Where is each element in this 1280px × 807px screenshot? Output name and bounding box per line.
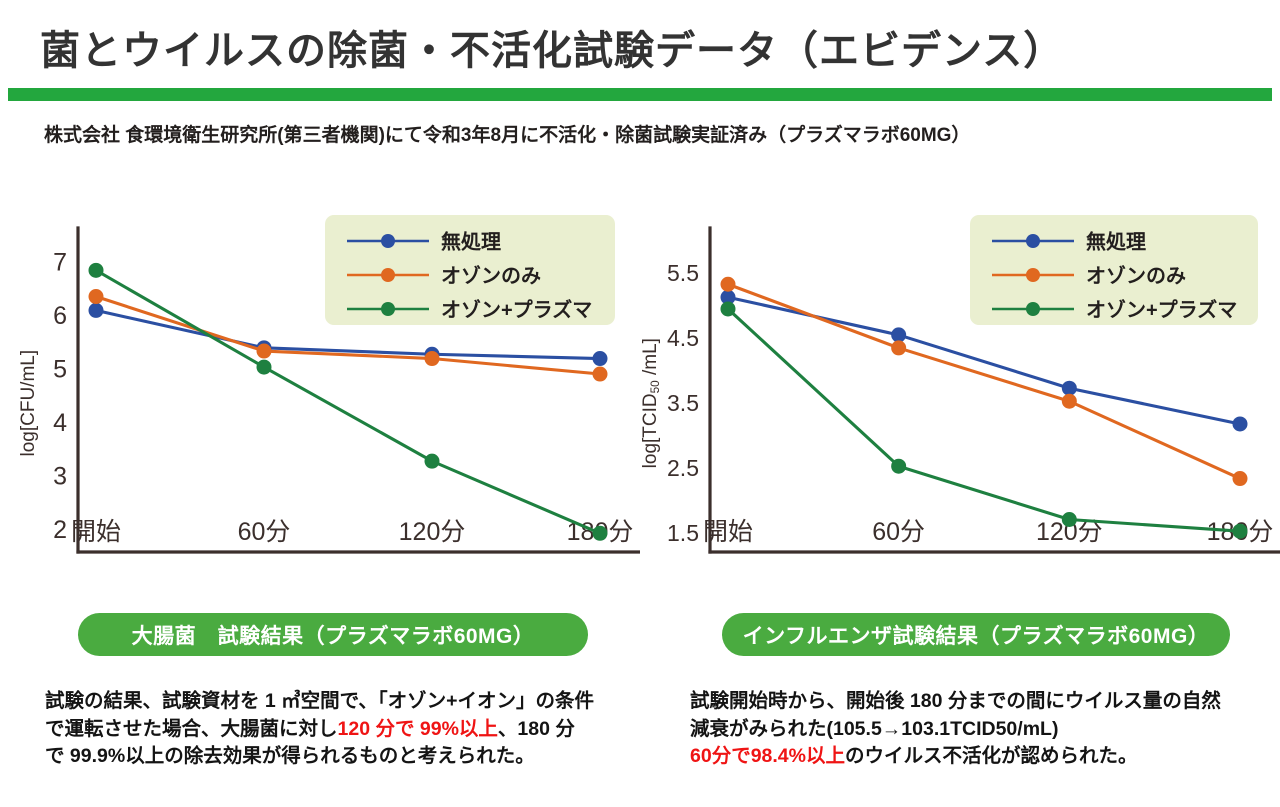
chart-ecoli-caption-pill: 大腸菌 試験結果（プラズマラボ60MG） bbox=[78, 613, 588, 656]
chart-influenza-caption-pill: インフルエンザ試験結果（プラズマラボ60MG） bbox=[722, 613, 1230, 656]
y-tick-label: 5.5 bbox=[667, 260, 699, 286]
caption-influenza-line3: 60分で98.4%以上のウイルス不活化が認められた。 bbox=[690, 743, 1280, 771]
series-line-ozone-plasma bbox=[728, 309, 1240, 531]
legend-label-ozone-plasma: オゾン+プラズマ bbox=[1086, 298, 1237, 322]
data-point-ozone-plasma[interactable] bbox=[891, 459, 906, 474]
caption-ecoli: 試験の結果、試験資材を 1 ㎥空間で、「オゾン+イオン」の条件 で運転させた場合… bbox=[45, 688, 670, 771]
data-point-ozone[interactable] bbox=[1062, 394, 1077, 409]
legend-marker-ozone-plasma bbox=[1026, 302, 1040, 316]
y-tick-label: 2.5 bbox=[667, 455, 699, 481]
data-point-ozone-plasma[interactable] bbox=[593, 526, 608, 541]
y-axis-title: log[CFU/mL] bbox=[18, 350, 39, 457]
data-point-untreated[interactable] bbox=[891, 327, 906, 342]
y-tick-label: 7 bbox=[53, 249, 67, 277]
caption-ecoli-line1: 試験の結果、試験資材を 1 ㎥空間で、「オゾン+イオン」の条件 bbox=[45, 688, 670, 716]
data-point-ozone[interactable] bbox=[257, 344, 272, 359]
legend-label-ozone: オゾンのみ bbox=[441, 265, 541, 288]
y-tick-label: 6 bbox=[53, 302, 67, 330]
data-point-ozone-plasma[interactable] bbox=[721, 301, 736, 316]
x-category-label: 開始 bbox=[71, 518, 121, 546]
caption-ecoli-line3: で 99.9%以上の除去効果が得られるものと考えられた。 bbox=[45, 743, 670, 771]
chart-influenza: 1.52.53.54.55.5log[TCID50 /mL]開始60分120分1… bbox=[640, 200, 1280, 620]
y-tick-label: 2 bbox=[53, 516, 67, 544]
data-point-ozone[interactable] bbox=[89, 289, 104, 304]
legend-marker-ozone-plasma bbox=[381, 302, 395, 316]
data-point-ozone-plasma[interactable] bbox=[1233, 524, 1248, 539]
y-axis-title: log[TCID50 /mL] bbox=[640, 338, 662, 468]
x-category-label: 60分 bbox=[872, 518, 925, 546]
legend-marker-untreated bbox=[1026, 234, 1040, 248]
x-category-label: 開始 bbox=[703, 518, 753, 546]
y-tick-label: 3 bbox=[53, 463, 67, 491]
legend-marker-ozone bbox=[1026, 268, 1040, 282]
data-point-ozone[interactable] bbox=[721, 277, 736, 292]
legend-label-untreated: 無処理 bbox=[1086, 230, 1146, 254]
caption-ecoli-highlight: 120 分で 99%以上 bbox=[338, 718, 498, 740]
y-tick-label: 4 bbox=[53, 409, 67, 437]
data-point-ozone-plasma[interactable] bbox=[425, 454, 440, 469]
caption-influenza-line1: 試験開始時から、開始後 180 分までの間にウイルス量の自然 bbox=[690, 688, 1280, 716]
caption-influenza-line3-b: のウイルス不活化が認められた。 bbox=[845, 745, 1138, 767]
chart-ecoli: 234567log[CFU/mL]開始60分120分180分無処理オゾンのみオゾ… bbox=[0, 200, 640, 620]
data-point-untreated[interactable] bbox=[1062, 381, 1077, 396]
y-tick-label: 1.5 bbox=[667, 520, 699, 546]
legend-marker-untreated bbox=[381, 234, 395, 248]
legend-label-ozone-plasma: オゾン+プラズマ bbox=[441, 298, 592, 322]
data-point-untreated[interactable] bbox=[1233, 416, 1248, 431]
y-tick-label: 5 bbox=[53, 356, 67, 384]
data-point-ozone-plasma[interactable] bbox=[1062, 512, 1077, 527]
chart-ecoli-canvas: 234567log[CFU/mL]開始60分120分180分無処理オゾンのみオゾ… bbox=[0, 200, 640, 620]
caption-ecoli-line2-a: で運転させた場合、大腸菌に対し bbox=[45, 718, 338, 740]
page-title: 菌とウイルスの除菌・不活化試験データ（エビデンス） bbox=[40, 18, 1064, 76]
y-tick-label: 3.5 bbox=[667, 390, 699, 416]
x-category-label: 120分 bbox=[399, 518, 466, 546]
chart-influenza-canvas: 1.52.53.54.55.5log[TCID50 /mL]開始60分120分1… bbox=[640, 200, 1280, 620]
data-point-ozone-plasma[interactable] bbox=[89, 263, 104, 278]
y-axis-title-subscript: 50 bbox=[649, 380, 662, 394]
title-divider-bar bbox=[8, 88, 1272, 101]
legend-label-ozone: オゾンのみ bbox=[1086, 265, 1186, 288]
legend-marker-ozone bbox=[381, 268, 395, 282]
y-axis-title-rest: /mL] bbox=[640, 338, 661, 380]
caption-ecoli-line2-b: 、180 分 bbox=[498, 718, 575, 740]
caption-ecoli-line2: で運転させた場合、大腸菌に対し120 分で 99%以上、180 分 bbox=[45, 716, 670, 744]
data-point-untreated[interactable] bbox=[89, 303, 104, 318]
data-point-ozone-plasma[interactable] bbox=[257, 360, 272, 375]
data-point-untreated[interactable] bbox=[593, 351, 608, 366]
y-tick-label: 4.5 bbox=[667, 325, 699, 351]
data-point-ozone[interactable] bbox=[425, 351, 440, 366]
caption-influenza-line2: 減衰がみられた(105.5→103.1TCID50/mL) bbox=[690, 716, 1280, 744]
data-point-ozone[interactable] bbox=[891, 340, 906, 355]
caption-influenza-highlight: 60分で98.4%以上 bbox=[690, 745, 845, 767]
data-point-ozone[interactable] bbox=[1233, 471, 1248, 486]
x-category-label: 60分 bbox=[238, 518, 291, 546]
page-subtitle: 株式会社 食環境衛生研究所(第三者機関)にて令和3年8月に不活化・除菌試験実証済… bbox=[44, 120, 970, 147]
caption-influenza: 試験開始時から、開始後 180 分までの間にウイルス量の自然 減衰がみられた(1… bbox=[690, 688, 1280, 771]
data-point-ozone[interactable] bbox=[593, 367, 608, 382]
legend-label-untreated: 無処理 bbox=[441, 230, 501, 254]
